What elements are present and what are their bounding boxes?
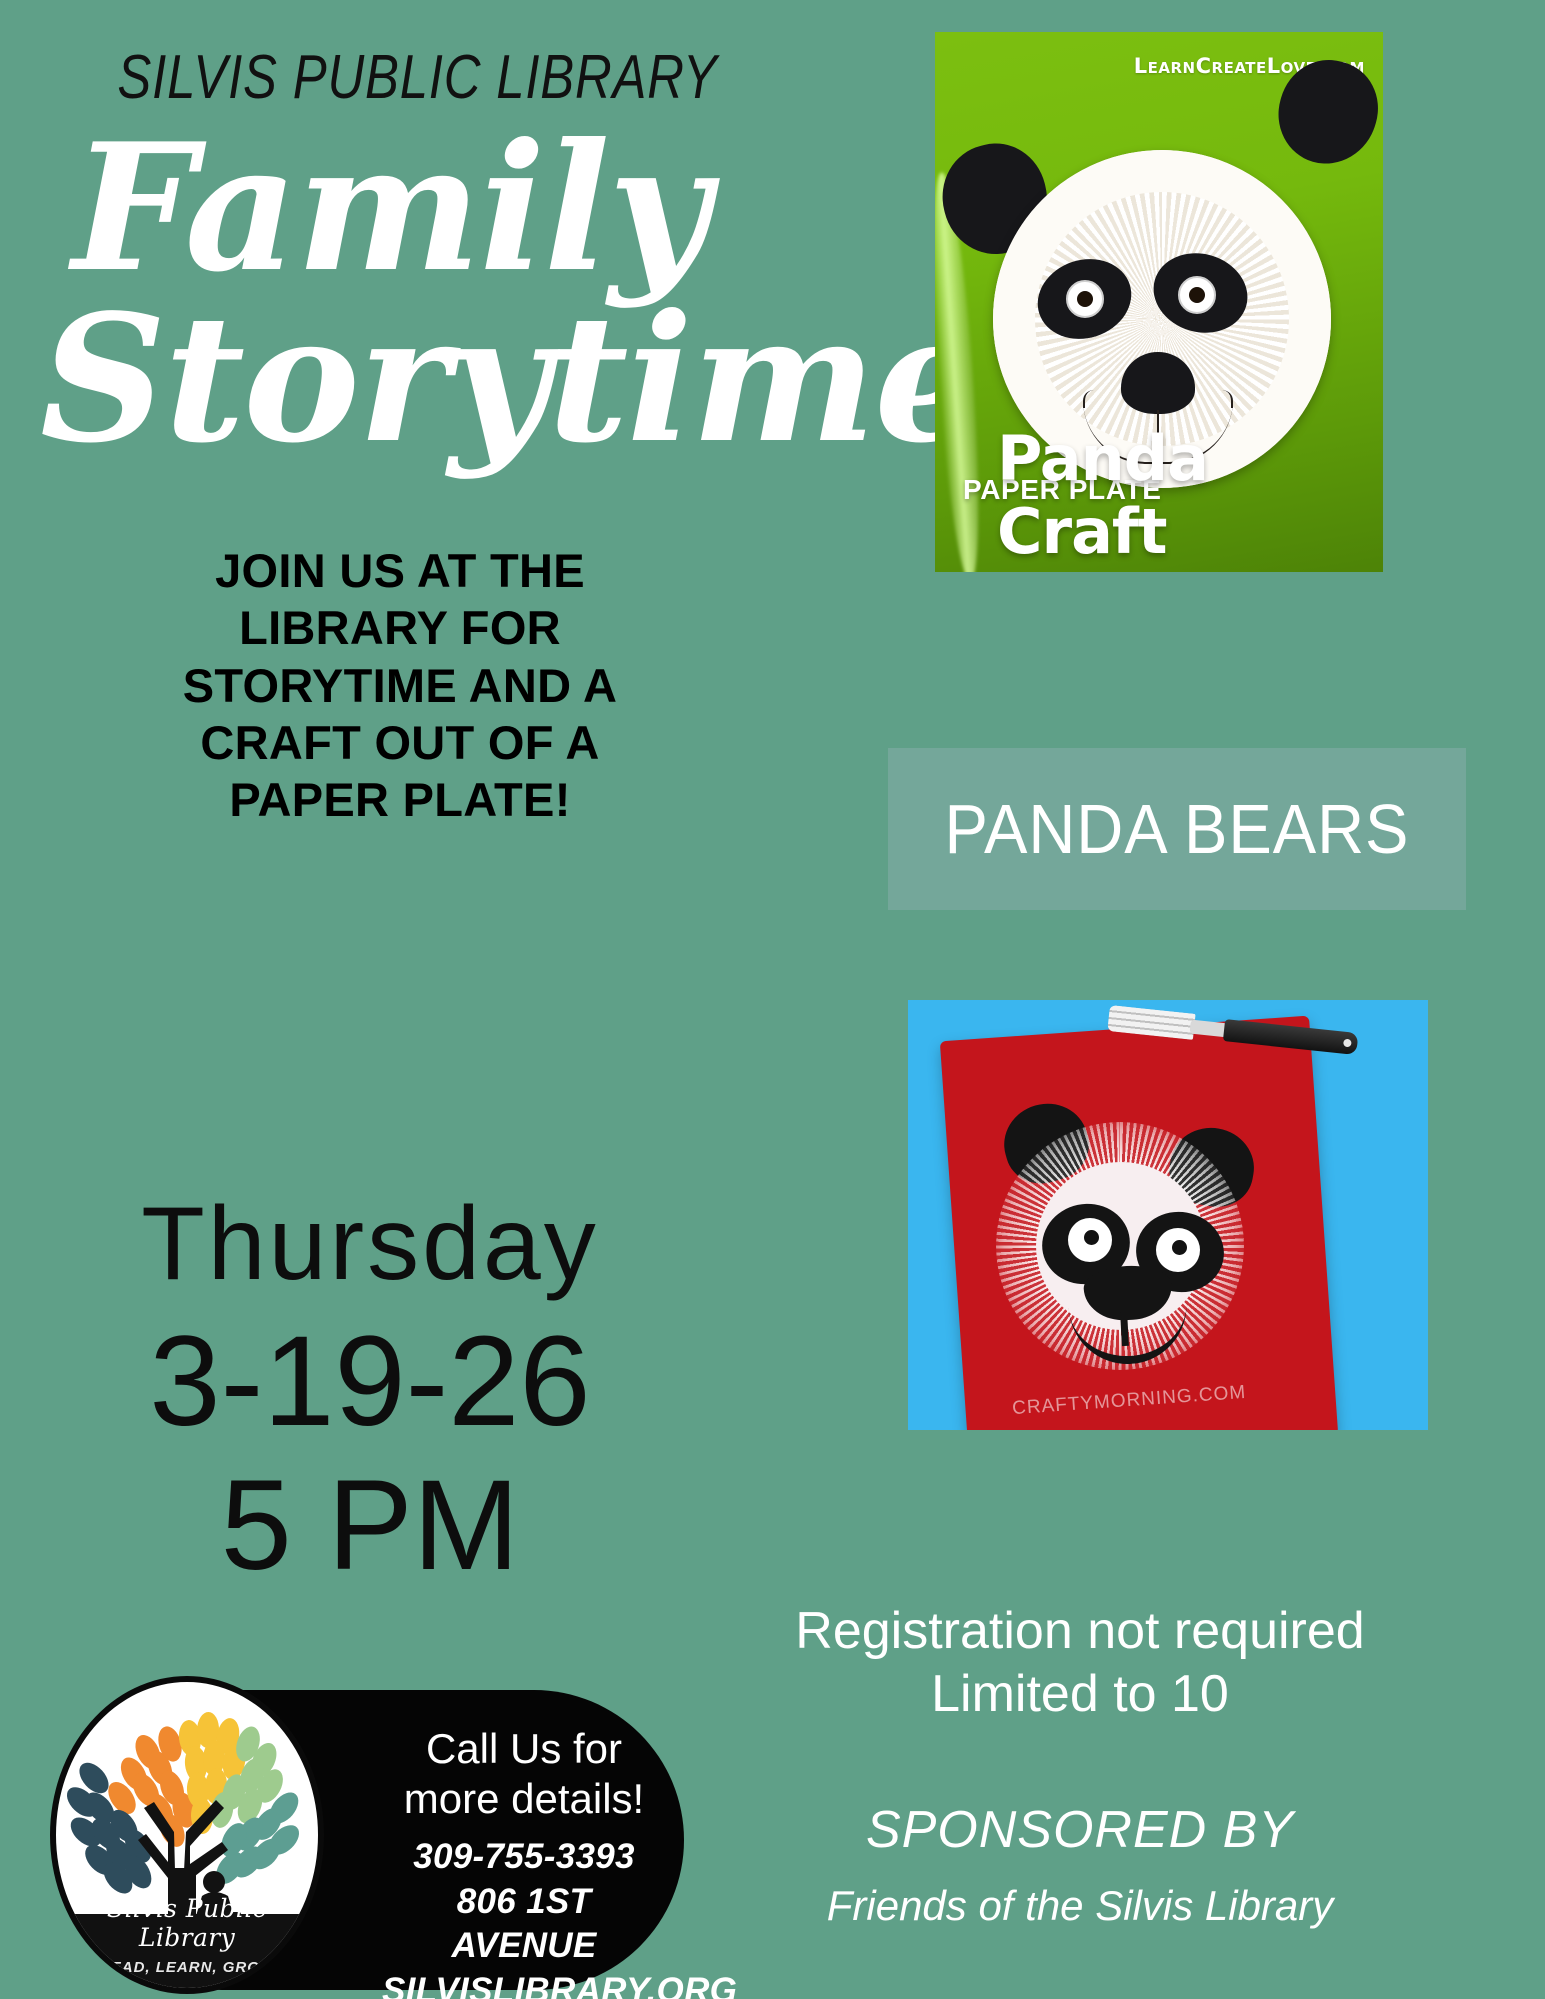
photo-caption-large: Panda Craft — [997, 422, 1383, 568]
title-line-1: Family — [40, 128, 740, 291]
sponsor-name: Friends of the Silvis Library — [640, 1882, 1520, 1930]
event-date: 3-19-26 — [60, 1318, 680, 1446]
paper-plate-panda-photo: LearnCreateLove.com PAPER PLATE Panda Cr… — [935, 32, 1383, 572]
registration-line-2: Limited to 10 — [640, 1663, 1520, 1726]
logo-library-name: Silvis Public Library — [56, 1894, 318, 1952]
contact-text: Call Us for more details! 309-755-3393 8… — [382, 1724, 666, 1999]
topic-banner-label: PANDA BEARS — [945, 789, 1410, 869]
title-line-2: Storytime — [40, 299, 740, 462]
logo-tagline: READ, LEARN, GROW — [56, 1959, 318, 1976]
contact-pill: Silvis Public Library READ, LEARN, GROW … — [72, 1690, 684, 1990]
event-datetime: Thursday 3-19-26 5 PM — [60, 1192, 680, 1590]
library-logo: Silvis Public Library READ, LEARN, GROW — [50, 1676, 324, 1994]
registration-line-1: Registration not required — [640, 1600, 1520, 1663]
contact-address: 806 1ST AVENUE — [382, 1880, 666, 1967]
page-title: Family Storytime — [40, 128, 740, 462]
sponsor-heading: SPONSORED BY — [640, 1800, 1520, 1860]
panda2-eye-left — [1068, 1218, 1112, 1262]
contact-website[interactable]: SILVISLIBRARY.ORG — [382, 1969, 666, 1999]
sponsor-block: SPONSORED BY Friends of the Silvis Libra… — [640, 1800, 1520, 1930]
call-line-1: Call Us for — [382, 1724, 666, 1774]
contact-phone[interactable]: 309-755-3393 — [382, 1835, 666, 1878]
registration-notes: Registration not required Limited to 10 — [640, 1600, 1520, 1727]
googly-eye-right — [1178, 276, 1216, 314]
panda2-eye-right — [1156, 1228, 1200, 1272]
event-day: Thursday — [60, 1192, 680, 1296]
fork-painted-panda-photo: CRAFTYMORNING.COM — [908, 1000, 1428, 1430]
topic-banner: PANDA BEARS — [888, 748, 1466, 910]
googly-eye-left — [1066, 280, 1104, 318]
library-name: SILVIS PUBLIC LIBRARY — [117, 42, 658, 113]
call-line-2: more details! — [382, 1774, 666, 1824]
flyer-poster: SILVIS PUBLIC LIBRARY Family Storytime J… — [0, 0, 1545, 1999]
event-description: JOIN US AT THE LIBRARY FOR STORYTIME AND… — [120, 542, 680, 829]
event-time: 5 PM — [60, 1462, 680, 1590]
